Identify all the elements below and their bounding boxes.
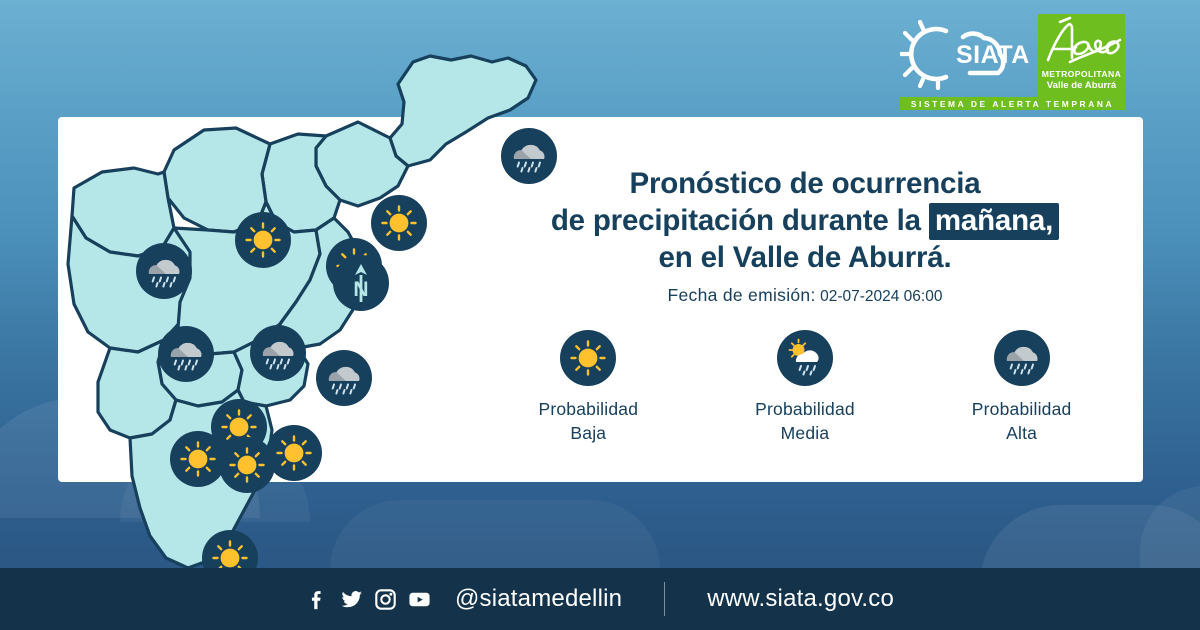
legend-label-high: Probabilidad Alta [932, 398, 1112, 445]
cloud-rain-icon [316, 350, 372, 406]
legend-label-low: Probabilidad Baja [498, 398, 678, 445]
emission-value: 02-07-2024 06:00 [820, 288, 942, 305]
website-url[interactable]: www.siata.gov.co [707, 585, 894, 613]
footer-bar: @siatamedellin www.siata.gov.co [0, 568, 1200, 630]
sun-icon [170, 431, 226, 487]
logo-block: SIATA METROPOLITANA Valle de Aburrá SIST… [900, 14, 1125, 108]
compass-rose: N [333, 255, 389, 316]
page-title: Pronóstico de ocurrencia de precipitació… [470, 165, 1140, 276]
map-marker-caldas-norte[interactable] [219, 437, 275, 498]
map-marker-medellin[interactable] [250, 325, 306, 386]
youtube-icon[interactable] [408, 588, 431, 611]
legend-item-low[interactable]: Probabilidad Baja [498, 330, 678, 445]
headline-line-2-text: de precipitación durante la [551, 204, 921, 237]
sun-cloud-rain-icon [777, 330, 833, 386]
headline-highlight: mañana, [929, 203, 1059, 240]
footer-divider [664, 582, 665, 616]
social-handle[interactable]: @siatamedellin [455, 585, 622, 613]
legend-item-medium[interactable]: Probabilidad Media [715, 330, 895, 445]
amva-area-script-icon [1040, 16, 1123, 71]
legend-item-high[interactable]: Probabilidad Alta [932, 330, 1112, 445]
twitter-icon[interactable] [340, 588, 363, 611]
emission-label: Fecha de emisión: [668, 285, 816, 305]
headline-line-3: en el Valle de Aburrá. [470, 239, 1140, 276]
sun-icon [219, 437, 275, 493]
sun-icon [235, 212, 291, 268]
compass-label: N [353, 278, 368, 301]
cloud-rain-icon [136, 243, 192, 299]
amva-valle-text: Valle de Aburrá [1038, 80, 1125, 91]
map-marker-bello[interactable] [158, 326, 214, 387]
map-marker-san-pedro[interactable] [235, 212, 291, 273]
emission-date-row: Fecha de emisión: 02-07-2024 06:00 [470, 285, 1140, 306]
siata-logo: SIATA [900, 18, 1030, 90]
map-marker-la-estrella[interactable] [170, 431, 226, 492]
sun-icon [560, 330, 616, 386]
headline-line-2: de precipitación durante la mañana, [470, 202, 1140, 239]
svg-text:SIATA: SIATA [956, 41, 1030, 69]
cloud-rain-icon [994, 330, 1050, 386]
legend-label-low-line1: Probabilidad [498, 398, 678, 422]
amva-metropolitana-text: METROPOLITANA [1038, 69, 1125, 79]
instagram-icon[interactable] [374, 588, 397, 611]
facebook-icon[interactable] [306, 588, 329, 611]
legend-label-medium: Probabilidad Media [715, 398, 895, 445]
map-marker-envigado[interactable] [316, 350, 372, 411]
legend-label-high-line2: Alta [932, 422, 1112, 446]
legend-label-medium-line1: Probabilidad [715, 398, 895, 422]
legend-label-low-line2: Baja [498, 422, 678, 446]
map-regions-svg [58, 40, 558, 580]
siata-tagline: SISTEMA DE ALERTA TEMPRANA [900, 97, 1125, 110]
probability-legend: Probabilidad Baja Prob [480, 330, 1130, 445]
legend-label-high-line1: Probabilidad [932, 398, 1112, 422]
headline-line-1: Pronóstico de ocurrencia [470, 165, 1140, 202]
map-marker-bello-norte[interactable] [136, 243, 192, 304]
amva-logo: METROPOLITANA Valle de Aburrá [1038, 14, 1125, 98]
legend-label-medium-line2: Media [715, 422, 895, 446]
cloud-rain-icon [158, 326, 214, 382]
cloud-rain-icon [250, 325, 306, 381]
valle-de-aburra-map[interactable]: N [58, 40, 558, 580]
social-icons [306, 588, 431, 611]
